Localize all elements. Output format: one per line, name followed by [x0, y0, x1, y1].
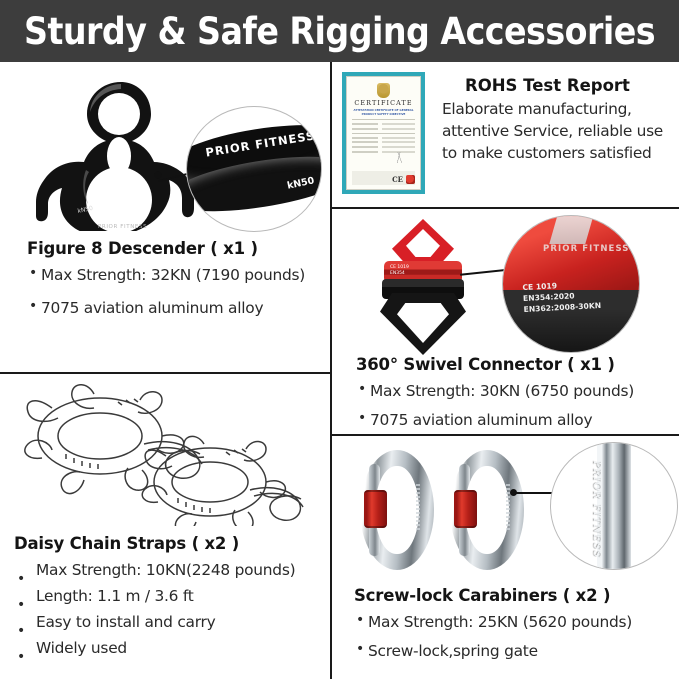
certificate-field-row [352, 137, 415, 139]
certificate-inner: CERTIFICATE ATTESTATION CERTIFICATE OF G… [346, 76, 421, 190]
list-item: Max Strength: 25KN (5620 pounds) [354, 612, 674, 633]
list-item: Widely used [14, 638, 326, 659]
list-item: 7075 aviation aluminum alloy [356, 410, 676, 431]
panel-screwlock-carabiners: PRIOR FITNESS Screw-lock Carabiners ( x2… [332, 436, 679, 679]
list-item: Max Strength: 10KN(2248 pounds) [14, 560, 326, 581]
ce-mark-text: CE [392, 175, 403, 184]
certificate-field-row [352, 146, 415, 148]
list-item: Max Strength: 32KN (7190 pounds) [27, 265, 317, 286]
daisy-bullet-list: Max Strength: 10KN(2248 pounds) Length: … [14, 560, 326, 664]
swivel-barrel-marking: CE 1019EN354 [390, 265, 409, 277]
list-item: 7075 aviation aluminum alloy [27, 298, 317, 319]
certificate-marks: CE [392, 175, 415, 184]
figure-8-title: Figure 8 Descender ( x1 ) [27, 239, 258, 258]
figure-8-descender-image: kN50 PRIOR FITNESS PRIOR FITNESS kN50 [8, 70, 322, 235]
certificate-field-row [352, 123, 415, 125]
swivel-connector-image: CE 1019EN354 PRIOR FITNESS CE 1019 EN354… [340, 213, 679, 353]
carabiners-bullet-list: Max Strength: 25KN (5620 pounds) Screw-l… [354, 612, 674, 662]
certification-logo-icon [406, 175, 415, 184]
certificate-signature [387, 152, 413, 163]
daisy-title: Daisy Chain Straps ( x2 ) [14, 534, 239, 553]
carabiner-magnifier-callout: PRIOR FITNESS [550, 442, 678, 570]
carabiner-screw-lock-sleeve [454, 490, 477, 528]
swivel-title: 360° Swivel Connector ( x1 ) [356, 355, 615, 374]
certificate-crest-icon [377, 83, 390, 98]
carabiner-engraving-text: PRIOR FITNESS [591, 461, 602, 558]
panel-rohs-test-report: CERTIFICATE ATTESTATION CERTIFICATE OF G… [332, 62, 679, 207]
figure-8-callout-anchor [154, 171, 162, 179]
certificate-field-row [352, 128, 415, 130]
swivel-magnifier-callout: PRIOR FITNESS CE 1019 EN354:2020 EN362:2… [502, 215, 640, 353]
carabiner-callout-bar [597, 442, 631, 570]
carabiners-title: Screw-lock Carabiners ( x2 ) [354, 586, 610, 605]
figure-8-magnifier-callout: PRIOR FITNESS kN50 [186, 106, 322, 232]
page-title: Sturdy & Safe Rigging Accessories [24, 10, 655, 53]
carabiner-engraving [416, 484, 420, 532]
panel-swivel-connector: CE 1019EN354 PRIOR FITNESS CE 1019 EN354… [332, 209, 679, 434]
certificate-subheading: ATTESTATION CERTIFICATE OF GENERAL PRODU… [352, 109, 415, 116]
list-item: Easy to install and carry [14, 612, 326, 633]
figure-8-bullet-list: Max Strength: 32KN (7190 pounds) 7075 av… [27, 265, 317, 319]
certificate-rule [352, 133, 415, 134]
carabiner-callout-leader [514, 492, 554, 494]
header-banner: Sturdy & Safe Rigging Accessories [0, 0, 679, 62]
list-item: Max Strength: 30KN (6750 pounds) [356, 381, 676, 402]
carabiner-icon [360, 450, 434, 570]
carabiner-screw-lock-sleeve [364, 490, 387, 528]
svg-text:PRIOR FITNESS: PRIOR FITNESS [98, 224, 147, 230]
daisy-chain-straps-image [4, 378, 326, 526]
swivel-spec-text: CE 1019 EN354:2020 EN362:2008-30KN [522, 278, 601, 315]
panel-daisy-chain-straps: Daisy Chain Straps ( x2 ) Max Strength: … [0, 374, 330, 679]
certificate-field-row [352, 141, 415, 143]
rohs-title: ROHS Test Report [465, 76, 630, 95]
swivel-bullet-list: Max Strength: 30KN (6750 pounds) 7075 av… [356, 381, 676, 431]
certificate-image: CERTIFICATE ATTESTATION CERTIFICATE OF G… [342, 72, 425, 194]
infographic-page: Sturdy & Safe Rigging Accessories kN50 P… [0, 0, 679, 679]
panel-figure-8-descender: kN50 PRIOR FITNESS PRIOR FITNESS kN50 Fi… [0, 62, 330, 372]
certificate-rule [352, 119, 415, 120]
certificate-heading: CERTIFICATE [352, 99, 415, 107]
list-item: Length: 1.1 m / 3.6 ft [14, 586, 326, 607]
swivel-brand-text: PRIOR FITNESS [543, 244, 630, 254]
carabiners-image: PRIOR FITNESS [342, 440, 679, 580]
rohs-description: Elaborate manufacturing, attentive Servi… [442, 98, 674, 164]
list-item: Screw-lock,spring gate [354, 641, 674, 662]
carabiner-icon [450, 450, 524, 570]
